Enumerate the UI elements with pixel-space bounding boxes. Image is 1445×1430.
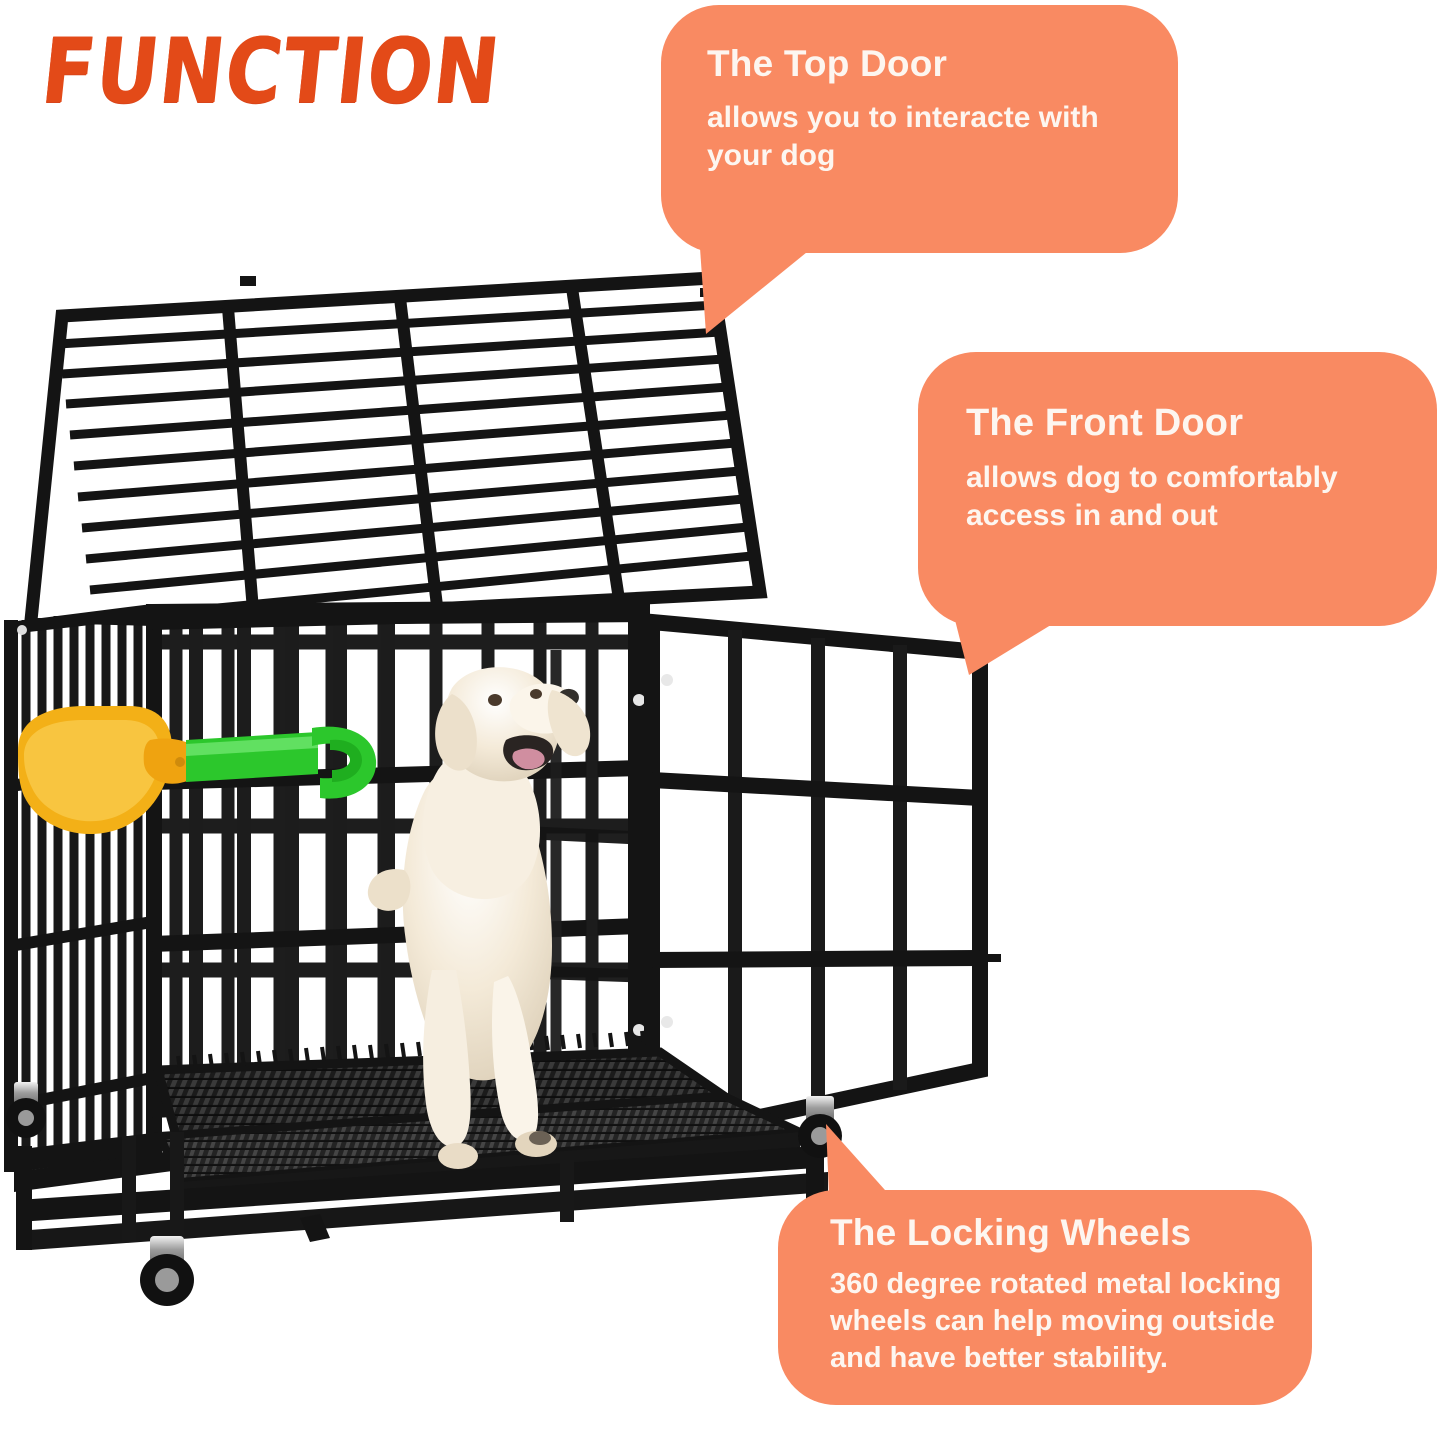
- callout-top-door-title: The Top Door: [707, 43, 1144, 85]
- callout-top-door: The Top Door allows you to interacte wit…: [661, 5, 1178, 253]
- infographic-canvas: FUNCTION: [0, 0, 1445, 1430]
- callout-front-door-title: The Front Door: [966, 402, 1411, 445]
- page-title: FUNCTION: [37, 18, 505, 123]
- front-door-panel: [652, 622, 1001, 1140]
- callout-top-door-body: allows you to interacte with your dog: [707, 99, 1144, 175]
- callout-front-door: The Front Door allows dog to comfortably…: [918, 352, 1437, 626]
- callout-locking-wheels-body: 360 degree rotated metal locking wheels …: [830, 1266, 1290, 1376]
- callout-front-door-body: allows dog to comfortably access in and …: [966, 459, 1411, 535]
- callout-locking-wheels: The Locking Wheels 360 degree rotated me…: [778, 1190, 1312, 1405]
- top-door-panel: [30, 276, 760, 630]
